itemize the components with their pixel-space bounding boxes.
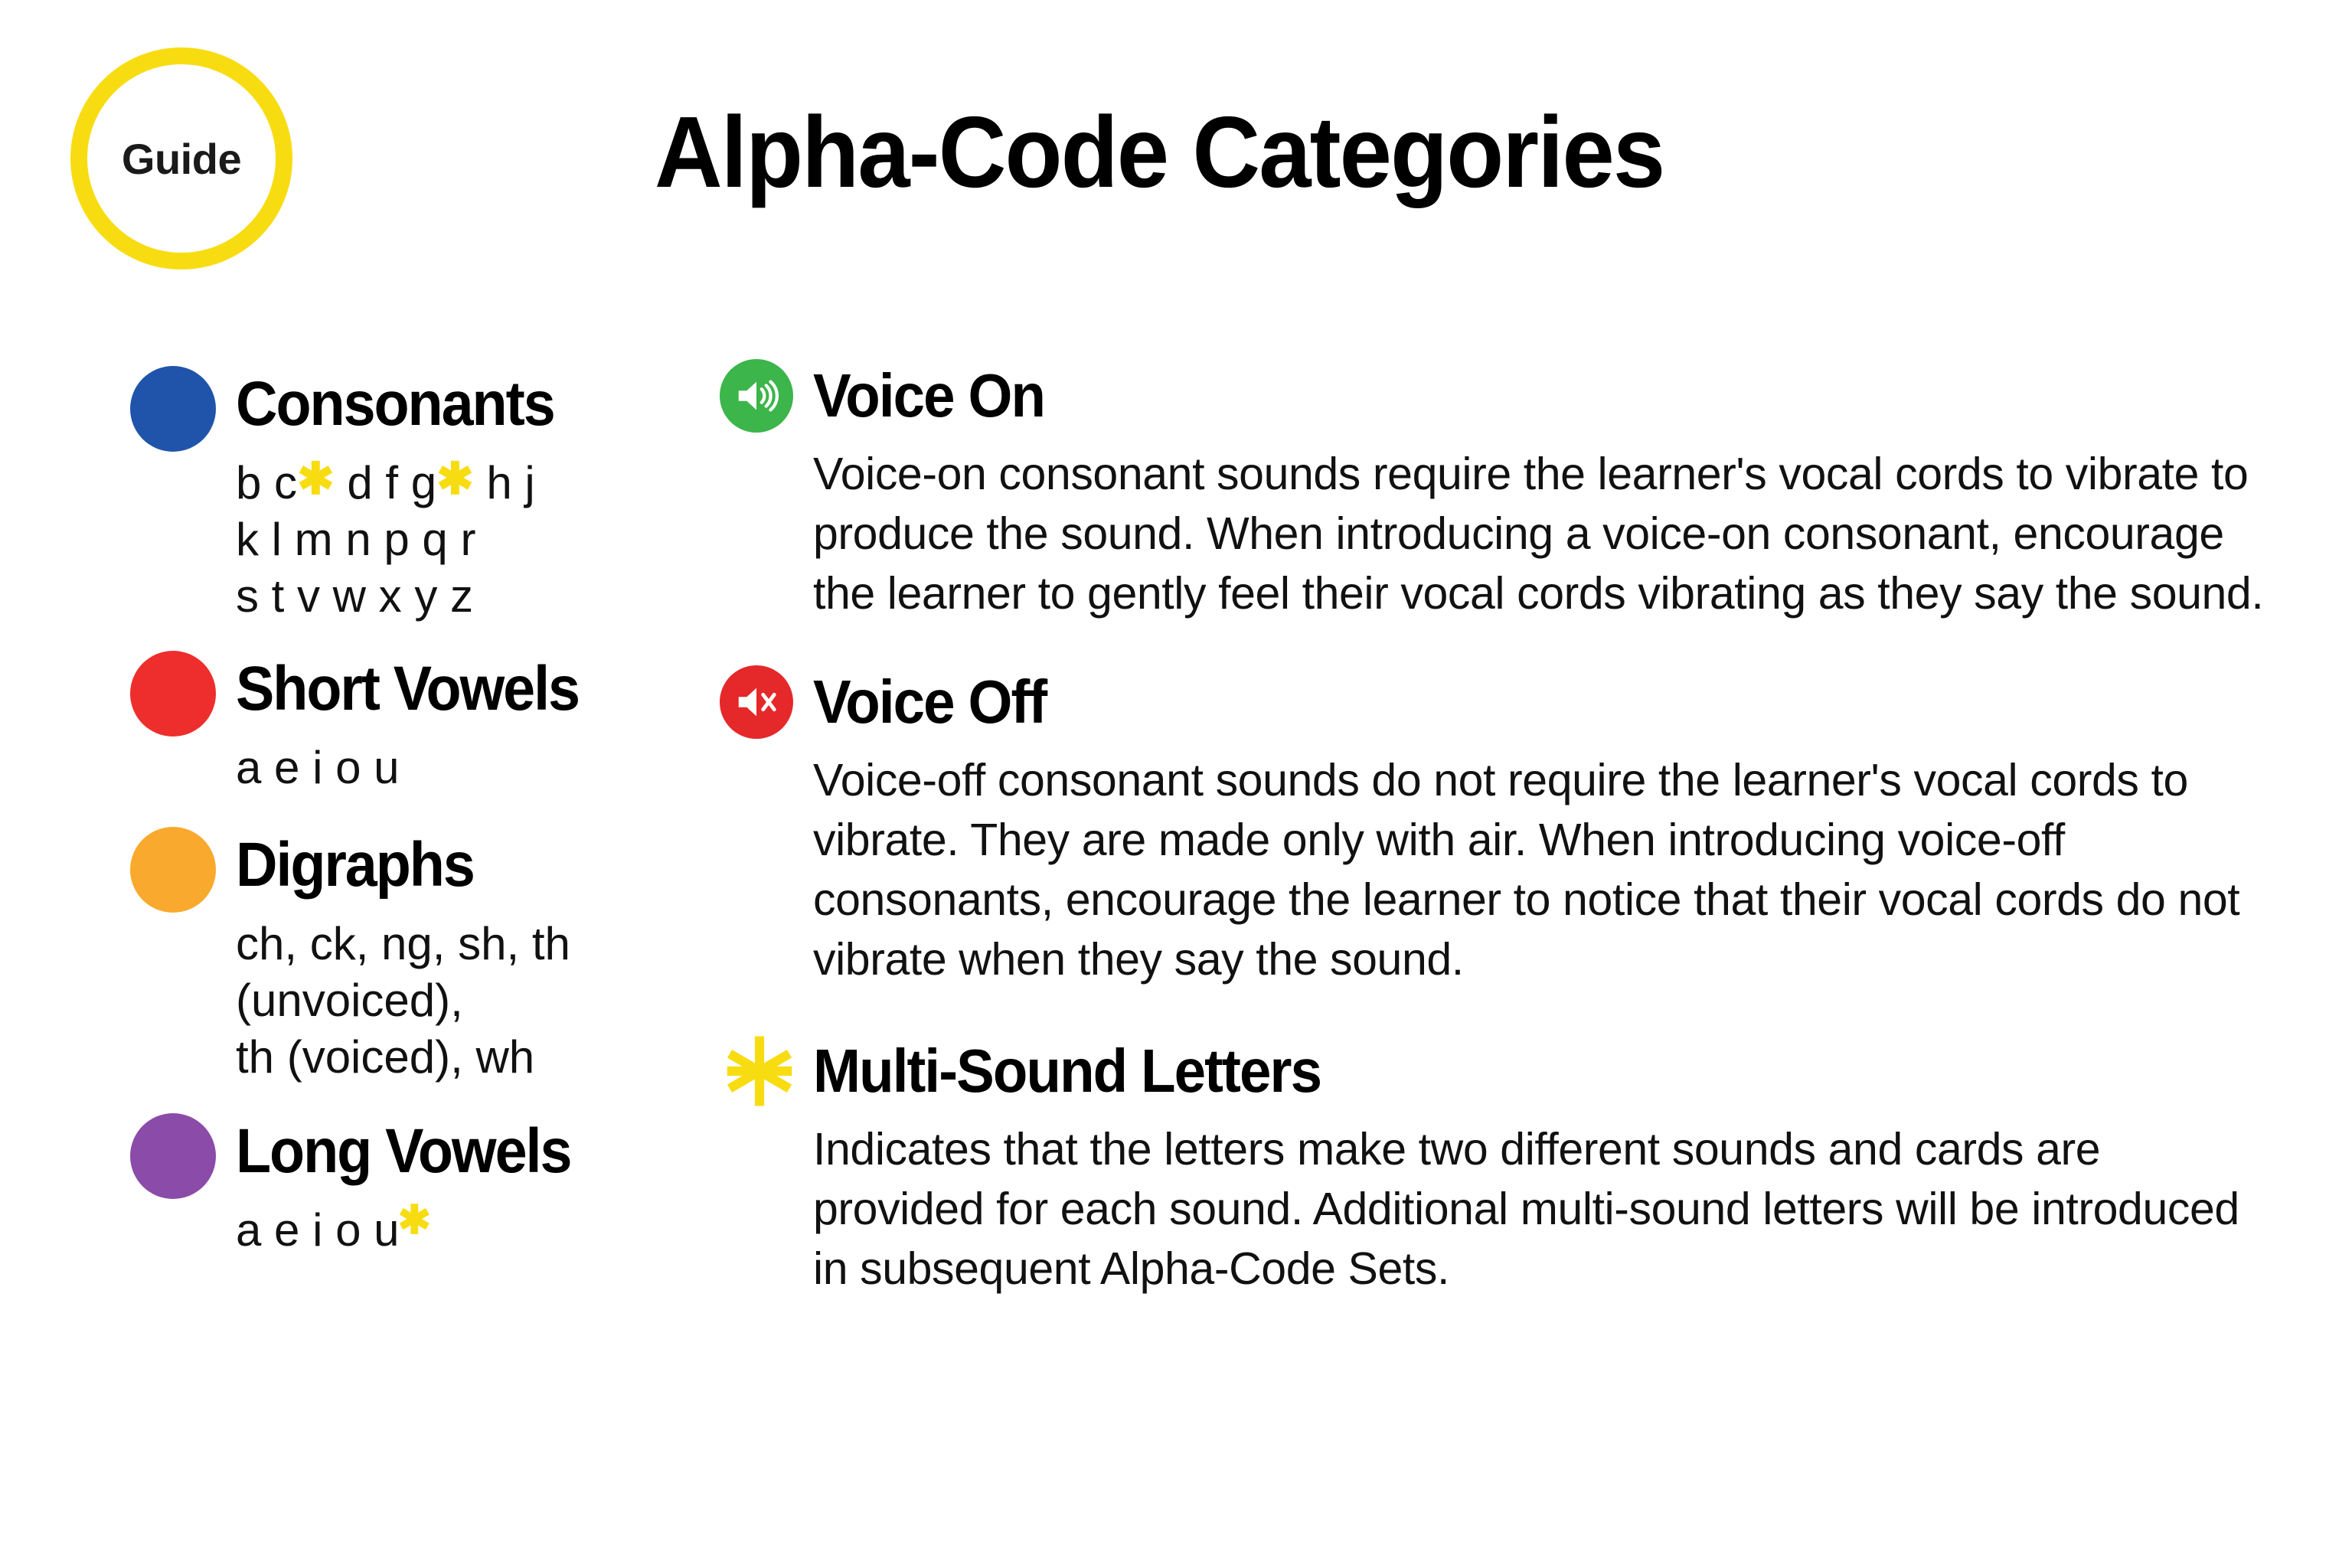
long-vowels-letter-list: a e i o u✱ <box>236 1202 666 1261</box>
descriptions-column: Voice On Voice-on consonant sounds requi… <box>720 354 2297 1318</box>
section-title: Voice Off <box>813 667 1046 737</box>
multi-sound-star-icon: ✱ <box>398 1198 432 1243</box>
category-consonants: Consonants b c✱ d f g✱ h j k l m n p q r… <box>130 366 666 625</box>
section-header: Voice On <box>720 354 2297 438</box>
letter-line: b c✱ d f g✱ h j <box>236 455 666 511</box>
digraphs-letter-list: ch, ck, ng, sh, th (unvoiced), th (voice… <box>236 916 666 1086</box>
section-voice-off: Voice Off Voice-off consonant sounds do … <box>720 660 2297 989</box>
letter-line: th (voiced), wh <box>236 1029 666 1086</box>
category-label: Long Vowels <box>236 1113 570 1190</box>
consonants-color-dot <box>130 366 216 452</box>
letter-line: a e i o u <box>236 740 666 796</box>
section-header: Multi-Sound Letters <box>720 1029 2297 1113</box>
category-digraphs: Digraphs ch, ck, ng, sh, th (unvoiced), … <box>130 827 666 1086</box>
short-vowels-color-dot <box>130 651 216 737</box>
multi-sound-star-icon: ✱ <box>297 454 335 504</box>
section-header: Voice Off <box>720 660 2297 744</box>
section-body: Indicates that the letters make two diff… <box>813 1119 2268 1298</box>
letters-segment: a e i o u <box>236 1204 400 1256</box>
speaker-muted-icon <box>720 665 793 739</box>
guide-badge: Guide <box>70 47 292 269</box>
page-title: Alpha-Code Categories <box>655 100 1664 206</box>
category-label: Consonants <box>236 366 554 443</box>
category-header: Long Vowels <box>130 1113 666 1199</box>
category-label: Short Vowels <box>236 651 579 727</box>
category-short-vowels: Short Vowels a e i o u <box>130 651 666 796</box>
letter-line: a e i o u✱ <box>236 1202 666 1261</box>
digraphs-color-dot <box>130 827 216 913</box>
long-vowels-color-dot <box>130 1113 216 1199</box>
letter-line: ch, ck, ng, sh, th <box>236 916 666 972</box>
section-body: Voice-on consonant sounds require the le… <box>813 444 2268 623</box>
letter-line: k l m n p q r <box>236 511 666 568</box>
category-header: Short Vowels <box>130 651 666 737</box>
category-header: Digraphs <box>130 827 666 913</box>
section-title: Multi-Sound Letters <box>813 1036 1321 1106</box>
category-legend-column: Consonants b c✱ d f g✱ h j k l m n p q r… <box>130 366 666 1287</box>
letters-segment: b c <box>236 457 297 508</box>
star-burst-icon <box>720 1031 799 1111</box>
letter-line: s t v w x y z <box>236 568 666 625</box>
speaker-on-icon <box>720 359 793 433</box>
alpha-code-categories-card: Guide Alpha-Code Categories Consonants b… <box>0 0 2352 1568</box>
category-header: Consonants <box>130 366 666 452</box>
section-voice-on: Voice On Voice-on consonant sounds requi… <box>720 354 2297 623</box>
guide-badge-label: Guide <box>122 134 241 184</box>
letter-line: (unvoiced), <box>236 972 666 1029</box>
category-label: Digraphs <box>236 827 474 903</box>
section-body: Voice-off consonant sounds do not requir… <box>813 750 2268 989</box>
section-title: Voice On <box>813 361 1044 431</box>
category-long-vowels: Long Vowels a e i o u✱ <box>130 1113 666 1261</box>
letters-segment: d f g <box>335 457 436 508</box>
multi-sound-star-icon: ✱ <box>436 454 474 504</box>
short-vowels-letter-list: a e i o u <box>236 740 666 796</box>
consonants-letter-list: b c✱ d f g✱ h j k l m n p q r s t v w x … <box>236 455 666 625</box>
letters-segment: h j <box>474 457 535 508</box>
section-multi-sound-letters: Multi-Sound Letters Indicates that the l… <box>720 1029 2297 1298</box>
